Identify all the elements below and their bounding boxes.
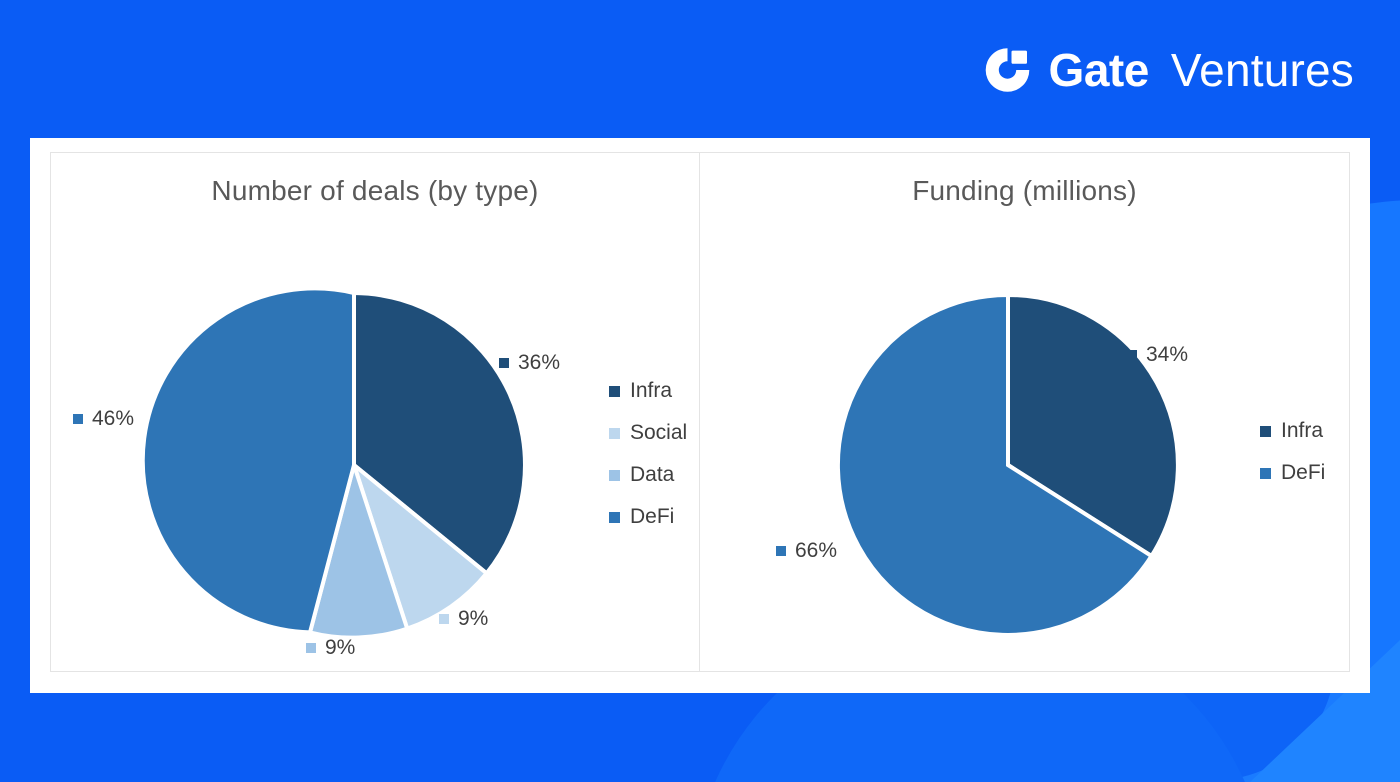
data-label-defi-text: 66% — [795, 539, 837, 563]
pie-chart-deals — [51, 153, 699, 671]
legend-swatch-data-icon — [609, 470, 620, 481]
slide-panel: Number of deals (by type) 36% — [30, 138, 1370, 693]
legend-swatch-defi-icon — [1260, 468, 1271, 479]
swatch-defi-icon — [73, 414, 83, 424]
chart-deals-by-type: Number of deals (by type) 36% — [50, 152, 700, 672]
legend-label-defi: DeFi — [630, 505, 674, 529]
data-label-defi: 66% — [776, 539, 837, 563]
data-label-defi: 46% — [73, 407, 134, 431]
legend-item-infra[interactable]: Infra — [1260, 419, 1325, 443]
legend-item-defi[interactable]: DeFi — [609, 505, 687, 529]
data-label-defi-text: 46% — [92, 407, 134, 431]
legend-swatch-defi-icon — [609, 512, 620, 523]
legend-label-data: Data — [630, 463, 674, 487]
pie-chart-funding — [700, 153, 1349, 671]
data-label-data: 9% — [306, 636, 355, 660]
legend-label-infra: Infra — [630, 379, 672, 403]
legend-item-defi[interactable]: DeFi — [1260, 461, 1325, 485]
data-label-data-text: 9% — [325, 636, 355, 660]
gate-g-logo-icon — [981, 44, 1039, 96]
legend-deals: Infra Social Data DeFi — [609, 379, 687, 529]
legend-swatch-infra-icon — [609, 386, 620, 397]
charts-row: Number of deals (by type) 36% — [50, 152, 1350, 672]
legend-label-social: Social — [630, 421, 687, 445]
data-label-infra: 34% — [1127, 343, 1188, 367]
data-label-infra-text: 34% — [1146, 343, 1188, 367]
chart-funding-millions: Funding (millions) 34% 66% — [700, 152, 1350, 672]
legend-item-data[interactable]: Data — [609, 463, 687, 487]
legend-label-defi: DeFi — [1281, 461, 1325, 485]
swatch-infra-icon — [499, 358, 509, 368]
data-label-infra-text: 36% — [518, 351, 560, 375]
data-label-social: 9% — [439, 607, 488, 631]
legend-label-infra: Infra — [1281, 419, 1323, 443]
swatch-defi-icon — [776, 546, 786, 556]
data-label-social-text: 9% — [458, 607, 488, 631]
legend-funding: Infra DeFi — [1260, 419, 1325, 485]
brand-logo: Gate Ventures — [981, 44, 1354, 96]
swatch-social-icon — [439, 614, 449, 624]
data-label-infra: 36% — [499, 351, 560, 375]
brand-name-ventures: Ventures — [1171, 47, 1354, 93]
legend-item-social[interactable]: Social — [609, 421, 687, 445]
swatch-infra-icon — [1127, 350, 1137, 360]
legend-swatch-social-icon — [609, 428, 620, 439]
legend-swatch-infra-icon — [1260, 426, 1271, 437]
brand-name-gate: Gate — [1049, 47, 1149, 93]
pie-slice-defi — [143, 288, 354, 632]
swatch-data-icon — [306, 643, 316, 653]
legend-item-infra[interactable]: Infra — [609, 379, 687, 403]
